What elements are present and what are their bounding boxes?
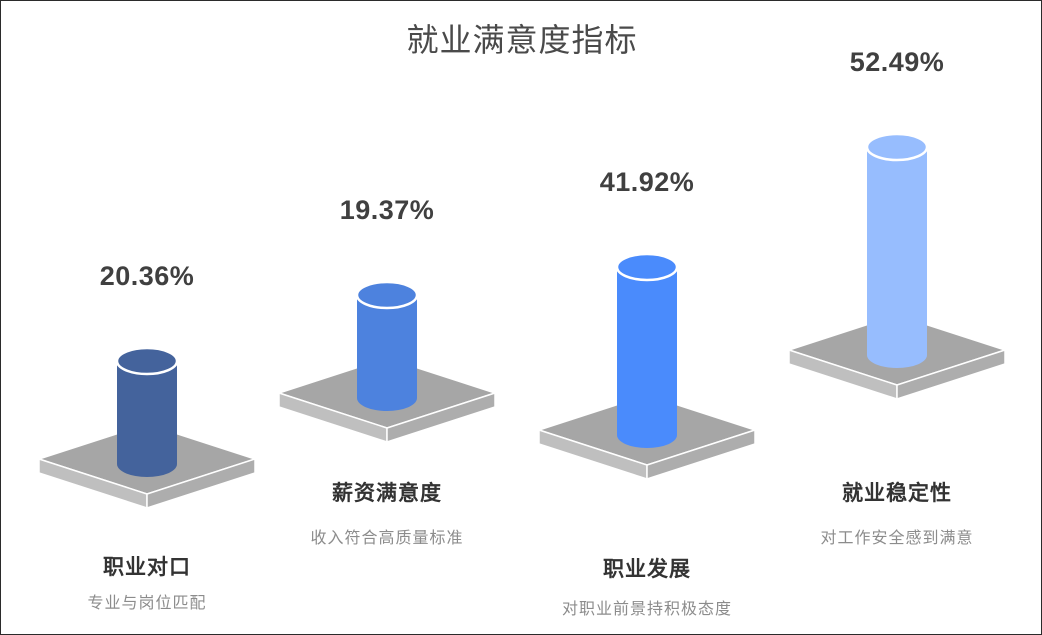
bar-group-3[interactable]: 41.92% 职业发展 对职业前景持积极态度 — [517, 0, 777, 634]
bar-cylinder-svg-4 — [767, 95, 1027, 400]
bar-stage-4 — [767, 95, 1027, 400]
bar-group-2[interactable]: 19.37% 薪资满意度 收入符合高质量标准 — [257, 0, 517, 634]
bar-subtitle-1: 专业与岗位匹配 — [17, 589, 277, 613]
cylinder-top-ellipse-1 — [117, 348, 177, 374]
bar-stage-1 — [17, 309, 277, 509]
bar-category-label-2: 薪资满意度 — [257, 477, 517, 507]
bar-group-4[interactable]: 52.49% 就业稳定性 对工作安全感到满意 — [767, 0, 1027, 634]
bar-subtitle-3: 对职业前景持积极态度 — [517, 595, 777, 619]
cylinder-body-3 — [617, 267, 677, 448]
bar-category-label-3: 职业发展 — [517, 553, 777, 583]
bar-value-label-4: 52.49% — [767, 47, 1027, 78]
cylinder-body-4 — [867, 147, 927, 368]
cylinder-top-ellipse-3 — [617, 254, 677, 280]
bar-subtitle-2: 收入符合高质量标准 — [257, 524, 517, 548]
bar-category-label-1: 职业对口 — [17, 551, 277, 581]
cylinder-top-ellipse-4 — [867, 134, 927, 160]
bar-value-label-3: 41.92% — [517, 167, 777, 198]
bar-value-label-2: 19.37% — [257, 195, 517, 226]
bar-subtitle-4: 对工作安全感到满意 — [767, 524, 1027, 548]
bar-cylinder-svg-2 — [257, 243, 517, 443]
bar-category-label-4: 就业稳定性 — [767, 477, 1027, 507]
bar-cylinder-svg-1 — [17, 309, 277, 509]
bar-cylinder-svg-3 — [517, 215, 777, 480]
cylinder-body-1 — [117, 361, 177, 477]
bar-stage-2 — [257, 243, 517, 443]
bar-stage-3 — [517, 215, 777, 480]
cylinder-top-ellipse-2 — [357, 282, 417, 308]
chart-container: 就业满意度指标 20.36% 职业对口 专业与岗位匹配 19.37% — [0, 0, 1042, 635]
cylinder-body-2 — [357, 295, 417, 411]
bar-group-1[interactable]: 20.36% 职业对口 专业与岗位匹配 — [17, 0, 277, 634]
bar-value-label-1: 20.36% — [17, 261, 277, 292]
